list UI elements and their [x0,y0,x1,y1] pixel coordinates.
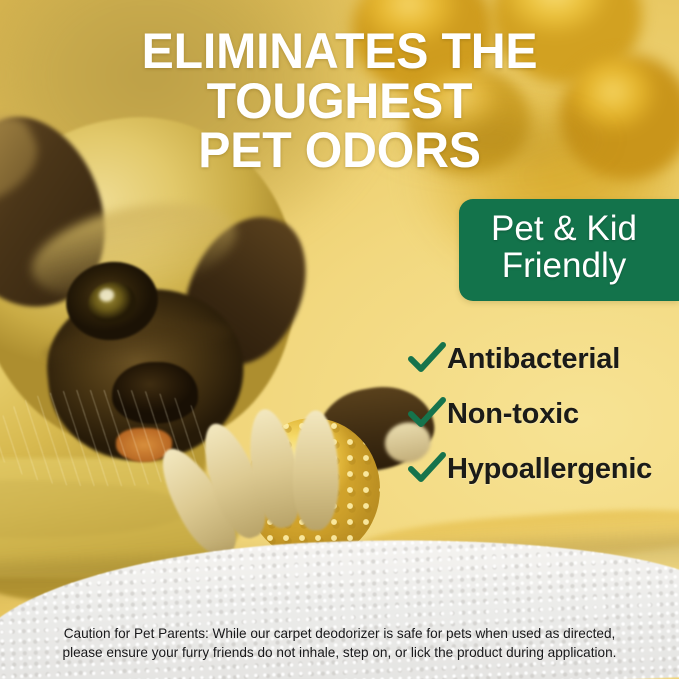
badge-label: Pet & Kid Friendly [459,210,679,285]
feature-list: Antibacterial Non-toxic Hypoallergenic [407,336,679,501]
dog-toe [293,410,339,530]
headline: ELIMINATES THE TOUGHEST PET ODORS [12,27,667,176]
feature-label: Antibacterial [447,343,620,376]
feature-item: Hypoallergenic [407,446,679,492]
caution-caption: Caution for Pet Parents: While our carpe… [0,624,679,663]
feature-label: Non-toxic [447,398,579,431]
pet-kid-friendly-badge: Pet & Kid Friendly [459,199,679,301]
check-icon [407,397,447,431]
feature-item: Antibacterial [407,336,679,382]
feature-label: Hypoallergenic [447,453,652,486]
feature-item: Non-toxic [407,391,679,437]
check-icon [407,342,447,376]
product-infographic: ELIMINATES THE TOUGHEST PET ODORS Pet & … [0,0,679,679]
check-icon [407,452,447,486]
